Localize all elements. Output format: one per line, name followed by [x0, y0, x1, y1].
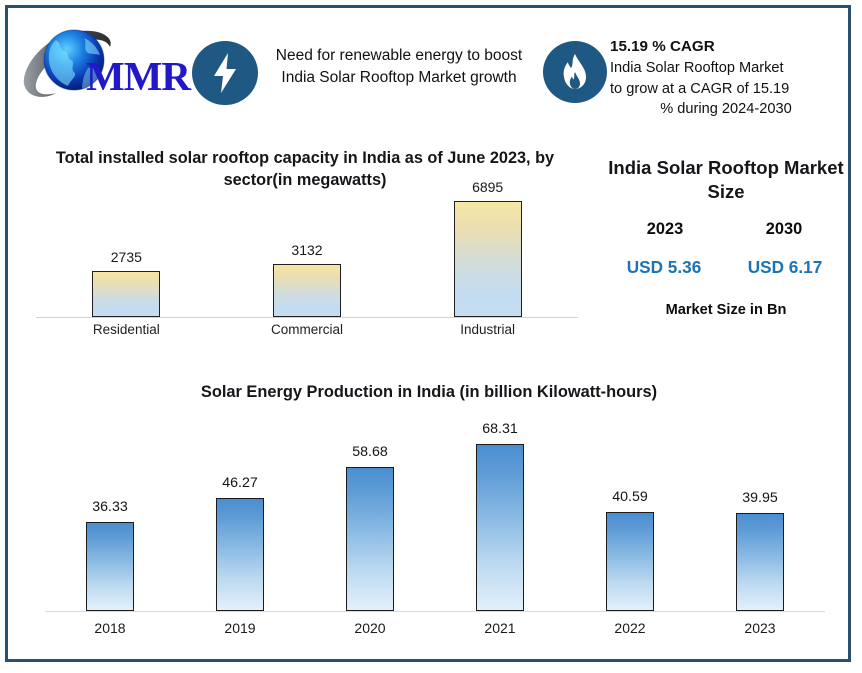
bar-2022 — [606, 512, 654, 611]
chart-capacity-axis-line — [36, 317, 578, 318]
bar-value-label: 46.27 — [190, 475, 290, 491]
bar-category-label: 2018 — [60, 620, 160, 636]
bar-2020 — [346, 467, 394, 611]
flame-icon — [543, 41, 607, 103]
bar-value-label: 39.95 — [710, 490, 810, 506]
cagr-line-3: % during 2024-2030 — [610, 99, 842, 119]
infographic-canvas: MMR Need for renewable energy to boost I… — [5, 5, 851, 662]
bar-value-label: 3132 — [257, 242, 357, 258]
bar-residential — [92, 271, 160, 317]
bar-2023 — [736, 513, 784, 611]
cagr-line-1: India Solar Rooftop Market — [610, 58, 842, 78]
logo-wordmark: MMR — [86, 52, 190, 100]
bar-category-label: 2022 — [580, 620, 680, 636]
bar-value-label: 2735 — [76, 249, 176, 265]
bar-value-label: 40.59 — [580, 489, 680, 505]
chart-production-title: Solar Energy Production in India (in bil… — [18, 383, 840, 402]
bar-value-label: 68.31 — [450, 421, 550, 437]
market-size-forecast-value: USD 6.17 — [730, 257, 840, 278]
bar-category-label: 2023 — [710, 620, 810, 636]
market-size-panel: India Solar Rooftop Market Size 2023 203… — [604, 150, 848, 325]
bar-value-label: 36.33 — [60, 499, 160, 515]
mmr-logo: MMR — [18, 20, 196, 108]
bar-category-label: 2021 — [450, 620, 550, 636]
bar-category-label: Commercial — [247, 322, 367, 337]
bar-category-label: Industrial — [428, 322, 548, 337]
bar-category-label: 2020 — [320, 620, 420, 636]
market-size-forecast-year: 2030 — [732, 220, 836, 239]
market-size-title: India Solar Rooftop Market Size — [604, 156, 848, 204]
cagr-line-2: to grow at a CAGR of 15.19 — [610, 79, 842, 99]
chart-solar-production: Solar Energy Production in India (in bil… — [18, 368, 840, 648]
chart-production-axis-line — [45, 611, 825, 612]
bar-2018 — [86, 522, 134, 611]
bar-category-label: 2019 — [190, 620, 290, 636]
chart-capacity-by-sector: Total installed solar rooftop capacity i… — [20, 140, 590, 355]
header-bar: MMR Need for renewable energy to boost I… — [8, 8, 848, 120]
bar-value-label: 6895 — [438, 179, 538, 195]
cagr-callout: 15.19 % CAGR India Solar Rooftop Market … — [610, 36, 842, 120]
market-size-base-value: USD 5.36 — [609, 257, 719, 278]
bar-category-label: Residential — [66, 322, 186, 337]
bar-2019 — [216, 498, 264, 611]
bar-industrial — [454, 201, 522, 317]
market-size-base-year: 2023 — [613, 220, 717, 239]
bar-value-label: 58.68 — [320, 444, 420, 460]
cagr-headline: 15.19 % CAGR — [610, 36, 842, 57]
tagline-text: Need for renewable energy to boost India… — [263, 45, 535, 89]
market-size-unit-label: Market Size in Bn — [604, 302, 848, 318]
bar-2021 — [476, 444, 524, 611]
lightning-bolt-icon — [192, 41, 258, 105]
bar-commercial — [273, 264, 341, 317]
